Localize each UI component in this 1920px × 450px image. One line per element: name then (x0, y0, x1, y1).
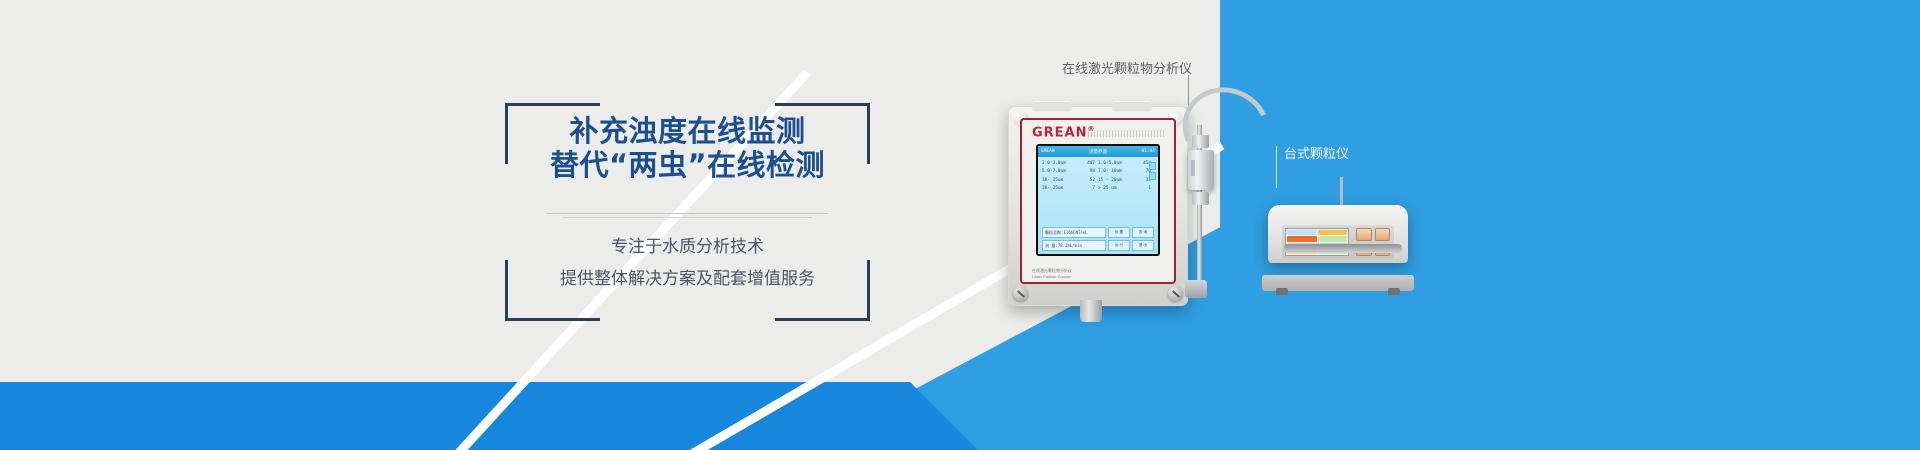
lcd-title: 测量界面 (1089, 149, 1107, 155)
bench-key-1[interactable] (1356, 228, 1372, 241)
brand-logo: GREAN® (1032, 125, 1096, 140)
callout-label-analyzer: 在线激光颗粒物分析仪 (1062, 58, 1192, 77)
inline-sensor-module (1188, 150, 1214, 190)
lcd-button-exit[interactable]: 退 出 (1132, 240, 1154, 251)
lcd-footer: 颗粒总数:1166CNT/mL 设 置 查 询 流 量:78.2mL/min 运… (1042, 225, 1154, 251)
range-a: 5.0-7.0um (1042, 168, 1078, 176)
analyzer-hinge-left (1032, 101, 1072, 111)
analyzer-model-en: Laser Particle Counter (1032, 274, 1072, 279)
lcd-scroll-buttons[interactable] (1149, 162, 1156, 182)
value-b: 1 (1134, 185, 1154, 193)
range-b: > 25 um (1098, 185, 1134, 193)
drain-valve (1185, 280, 1207, 298)
analyzer-hinge-right (1112, 101, 1152, 111)
lcd-button-query[interactable]: 查 询 (1132, 227, 1154, 238)
sample-tubing-vertical (1197, 125, 1202, 285)
table-row: 20- 25um 7 > 25 um 1 (1042, 185, 1154, 193)
bench-foot-right (1388, 288, 1400, 295)
analyzer-model-text: 在线激光颗粒物分析仪 Laser Particle Counter (1032, 268, 1072, 279)
bench-foot-left (1276, 288, 1288, 295)
lcd-button-settings[interactable]: 设 置 (1108, 227, 1130, 238)
analyzer-screw-bottom-left (1013, 286, 1028, 301)
range-b: 7.0- 10um (1098, 168, 1134, 176)
lcd-flow-row: 流 量:78.2mL/min 运 行 退 出 (1042, 240, 1154, 251)
benchtop-particle-counter (1262, 205, 1414, 291)
brand-logo-text: GREAN (1032, 125, 1088, 140)
callout-leader-line-analyzer (1188, 75, 1189, 105)
lcd-total-field: 颗粒总数:1166CNT/mL (1042, 227, 1106, 238)
lcd-total-row: 颗粒总数:1166CNT/mL 设 置 查 询 (1042, 227, 1154, 238)
subtitle-line-1: 专注于水质分析技术 (505, 234, 870, 260)
headline-block: 补充浊度在线监测 替代“两虫”在线检测 专注于水质分析技术 提供整体解决方案及配… (505, 103, 870, 321)
value-a: 7 (1078, 185, 1098, 193)
tubing-fitting-lower (1192, 192, 1209, 205)
headline-line-1: 补充浊度在线监测 (505, 115, 870, 149)
table-row: 5.0-7.0um 94 7.0- 10um 76 (1042, 168, 1154, 176)
lcd-title-bar: GREAN 测量界面 01:44 (1038, 146, 1158, 157)
analyzer-bottom-conduit (1080, 300, 1102, 322)
lcd-scroll-down[interactable] (1149, 172, 1156, 180)
analyzer-vent-hatch (1088, 130, 1166, 137)
lcd-button-run[interactable]: 运 行 (1108, 240, 1130, 251)
analyzer-screw-bottom-right (1168, 286, 1183, 301)
tubing-fitting-upper (1192, 135, 1209, 148)
lcd-particle-table: 2.0-3.0um 447 3.0-5.0um 454 5.0-7.0um 94… (1038, 157, 1158, 193)
bench-tile-1 (1287, 230, 1317, 235)
bench-tile-2 (1318, 230, 1348, 235)
range-b: 15 - 20um (1098, 177, 1134, 185)
lcd-flow-field: 流 量:78.2mL/min (1042, 240, 1106, 251)
lcd-scroll-up[interactable] (1149, 162, 1156, 170)
range-b: 3.0-5.0um (1098, 160, 1134, 168)
table-row: 10- 15um 52 15 - 20um 35 (1042, 177, 1154, 185)
analyzer-model-cn: 在线激光颗粒物分析仪 (1032, 268, 1072, 273)
lcd-brand: GREAN (1041, 149, 1055, 154)
hero-banner: 补充浊度在线监测 替代“两虫”在线检测 专注于水质分析技术 提供整体解决方案及配… (0, 0, 1920, 450)
range-a: 20- 25um (1042, 185, 1078, 193)
lcd-status: 01:44 (1141, 149, 1155, 154)
subtitle-line-2: 提供整体解决方案及配套增值服务 (505, 266, 870, 292)
value-a: 447 (1078, 160, 1098, 168)
lcd-inner: GREAN 测量界面 01:44 2.0-3.0um 447 3.0-5.0um… (1038, 146, 1158, 254)
callout-label-bench: 台式颗粒仪 (1284, 143, 1349, 162)
online-laser-particle-analyzer: GREAN® GREAN 测量界面 01:44 2.0-3.0um 447 3.… (1008, 106, 1188, 306)
value-a: 52 (1078, 177, 1098, 185)
value-a: 94 (1078, 168, 1098, 176)
divider-upper (547, 213, 828, 214)
bench-tile-4 (1318, 236, 1348, 241)
bench-front-face (1282, 225, 1394, 259)
divider-lower (563, 217, 812, 218)
headline-line-2: 替代“两虫”在线检测 (505, 149, 870, 183)
bench-key-2[interactable] (1375, 228, 1391, 241)
callout-leader-line-bench (1276, 146, 1277, 188)
analyzer-front-panel: GREAN® GREAN 测量界面 01:44 2.0-3.0um 447 3.… (1020, 118, 1176, 284)
bench-sample-slot (1284, 244, 1402, 253)
table-row: 2.0-3.0um 447 3.0-5.0um 454 (1042, 160, 1154, 168)
range-a: 10- 15um (1042, 177, 1078, 185)
bench-antenna-rod (1340, 177, 1343, 207)
bench-tile-3 (1287, 236, 1317, 241)
range-a: 2.0-3.0um (1042, 160, 1078, 168)
bench-housing (1268, 205, 1408, 263)
headline: 补充浊度在线监测 替代“两虫”在线检测 (505, 115, 870, 182)
analyzer-lcd-screen[interactable]: GREAN 测量界面 01:44 2.0-3.0um 447 3.0-5.0um… (1036, 144, 1160, 256)
